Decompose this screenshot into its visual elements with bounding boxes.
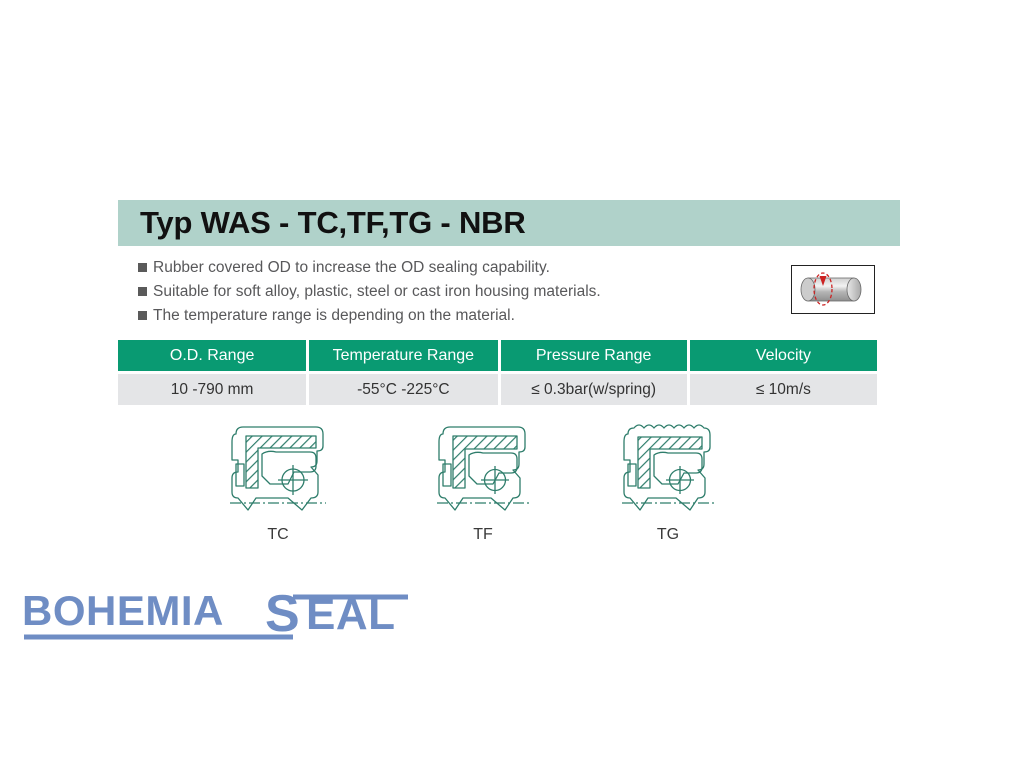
brand-logo: BOHEMIA S EAL [18,585,418,647]
svg-text:S: S [265,585,300,643]
seal-label-tc: TC [208,526,348,544]
list-item: Rubber covered OD to increase the OD sea… [138,257,758,279]
feature-text: Rubber covered OD to increase the OD sea… [153,257,550,278]
seal-diagram-tf: TF [413,420,553,544]
feature-text: The temperature range is depending on th… [153,305,515,326]
seal-diagram-group: TC [118,420,878,555]
feature-text: Suitable for soft alloy, plastic, steel … [153,281,601,302]
svg-text:BOHEMIA: BOHEMIA [22,587,224,634]
seal-cross-section-tg [608,420,728,524]
seal-label-tf: TF [413,526,553,544]
column-header-od-range: O.D. Range [118,340,306,371]
column-header-pressure-range: Pressure Range [501,340,687,371]
cell-velocity: ≤ 10m/s [690,374,877,405]
page-title: Typ WAS - TC,TF,TG - NBR [140,205,526,241]
cell-od-range: 10 -790 mm [118,374,306,405]
square-bullet-icon [138,263,147,272]
cell-temperature-range: -55°C -225°C [309,374,497,405]
seal-cross-section-tc [218,420,338,524]
seal-diagram-tc: TC [208,420,348,544]
title-banner: Typ WAS - TC,TF,TG - NBR [118,200,900,246]
square-bullet-icon [138,311,147,320]
cell-pressure-range: ≤ 0.3bar(w/spring) [501,374,687,405]
table-row: 10 -790 mm -55°C -225°C ≤ 0.3bar(w/sprin… [118,374,877,405]
table-header-row: O.D. Range Temperature Range Pressure Ra… [118,340,877,371]
bohemia-seal-logo: BOHEMIA S EAL [18,585,418,647]
rotating-shaft-icon [791,265,875,314]
feature-list: Rubber covered OD to increase the OD sea… [138,257,758,329]
specification-table: O.D. Range Temperature Range Pressure Ra… [118,340,877,406]
column-header-temperature-range: Temperature Range [309,340,497,371]
seal-diagram-tg: TG [598,420,738,544]
seal-cross-section-tf [423,420,543,524]
list-item: Suitable for soft alloy, plastic, steel … [138,281,758,303]
list-item: The temperature range is depending on th… [138,305,758,327]
product-spec-sheet: Typ WAS - TC,TF,TG - NBR Rubber covered … [0,0,1024,768]
seal-label-tg: TG [598,526,738,544]
square-bullet-icon [138,287,147,296]
column-header-velocity: Velocity [690,340,877,371]
